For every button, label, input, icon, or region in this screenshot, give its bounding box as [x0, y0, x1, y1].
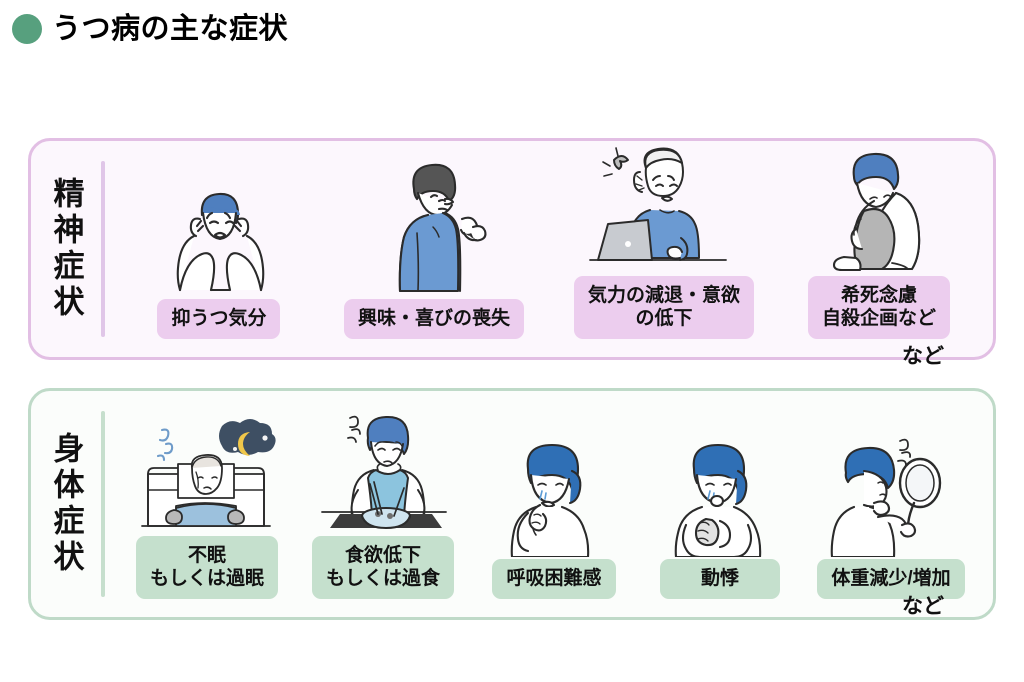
symptom-item[interactable]: 希死念慮 自殺企画など: [804, 141, 954, 339]
physical-etc-label: など: [902, 590, 944, 620]
symptom-label: 食欲低下 もしくは過食: [312, 536, 454, 600]
symptom-item[interactable]: 呼吸困難感: [484, 391, 624, 599]
person-holding-head-icon: [144, 141, 294, 299]
physical-items: 不眠 もしくは過眠: [105, 391, 993, 617]
person-awake-in-bed-icon: [132, 391, 282, 536]
physical-symptoms-panel: 身体症状: [28, 388, 996, 620]
symptom-label: 気力の減退・意欲 の低下: [574, 276, 754, 340]
symptom-item[interactable]: 抑うつ気分: [144, 141, 294, 339]
symptom-label: 呼吸困難感: [492, 559, 615, 599]
symptom-item[interactable]: 体重減少/増加: [816, 391, 966, 599]
mental-category-label: 精神症状: [31, 141, 101, 357]
circle-bullet-icon: [12, 14, 42, 44]
mental-items: 抑うつ気分: [105, 141, 993, 357]
symptom-item[interactable]: 食欲低下 もしくは過食: [308, 391, 458, 599]
symptom-label: 動悸: [660, 559, 780, 599]
person-sighing-icon: [359, 141, 509, 299]
physical-category-text: 身体症状: [51, 432, 82, 576]
symptom-label: 抑うつ気分: [157, 299, 280, 339]
symptom-label: 不眠 もしくは過眠: [136, 536, 278, 600]
mental-etc-label: など: [902, 340, 944, 370]
symptom-item[interactable]: 興味・喜びの喪失: [344, 141, 524, 339]
symptom-item[interactable]: 不眠 もしくは過眠: [132, 391, 282, 599]
person-at-laptop-tired-icon: [584, 141, 744, 276]
person-palpitations-icon: [650, 391, 790, 559]
person-breathing-difficulty-icon: [484, 391, 624, 559]
page-title: うつ病の主な症状: [52, 15, 288, 44]
page-title-row: うつ病の主な症状: [12, 14, 288, 44]
symptom-label: 希死念慮 自殺企画など: [808, 276, 950, 340]
mental-category-text: 精神症状: [51, 177, 82, 321]
symptom-item[interactable]: 気力の減退・意欲 の低下: [574, 141, 754, 339]
person-curled-up-icon: [804, 141, 954, 276]
symptom-label: 興味・喜びの喪失: [344, 299, 524, 339]
mental-symptoms-panel: 精神症状: [28, 138, 996, 360]
symptom-item[interactable]: 動悸: [650, 391, 790, 599]
person-with-mirror-icon: [816, 391, 966, 559]
physical-category-label: 身体症状: [31, 391, 101, 617]
person-no-appetite-icon: [308, 391, 458, 536]
